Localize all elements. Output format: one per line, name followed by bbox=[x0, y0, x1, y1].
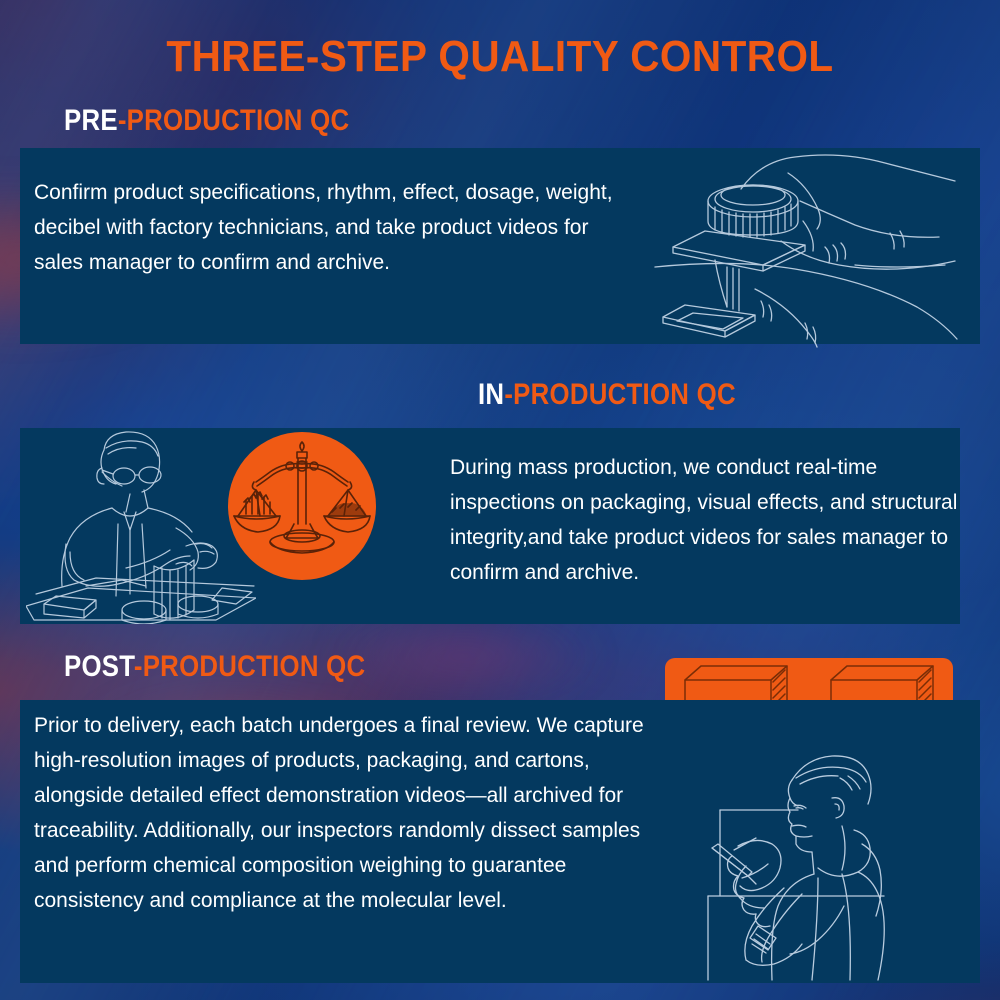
page-title: THREE-STEP QUALITY CONTROL bbox=[40, 32, 960, 82]
step-1-heading-orange: -PRODUCTION QC bbox=[118, 104, 350, 137]
step-3-heading: POST-PRODUCTION QC bbox=[64, 650, 365, 684]
step-2-heading-orange: -PRODUCTION QC bbox=[504, 378, 736, 411]
inspector-at-workbench-icon bbox=[26, 428, 256, 624]
step-2-heading: IN-PRODUCTION QC bbox=[478, 378, 736, 412]
step-1-heading: PRE-PRODUCTION QC bbox=[64, 104, 349, 138]
man-with-tablet-icon bbox=[672, 748, 972, 983]
step-2-heading-white: IN bbox=[478, 378, 504, 411]
step-1-body-text: Confirm product specifications, rhythm, … bbox=[34, 175, 614, 280]
hand-holding-device-icon bbox=[655, 155, 965, 340]
step-3-heading-orange: -PRODUCTION QC bbox=[134, 650, 366, 683]
step-3-body-text: Prior to delivery, each batch undergoes … bbox=[34, 708, 659, 918]
balance-scale-badge bbox=[228, 432, 376, 580]
step-3-heading-white: POST bbox=[64, 650, 134, 683]
step-2-body-text: During mass production, we conduct real-… bbox=[450, 450, 980, 590]
infographic-poster: THREE-STEP QUALITY CONTROL PRE-PRODUCTIO… bbox=[0, 0, 1000, 1000]
step-1-heading-white: PRE bbox=[64, 104, 118, 137]
